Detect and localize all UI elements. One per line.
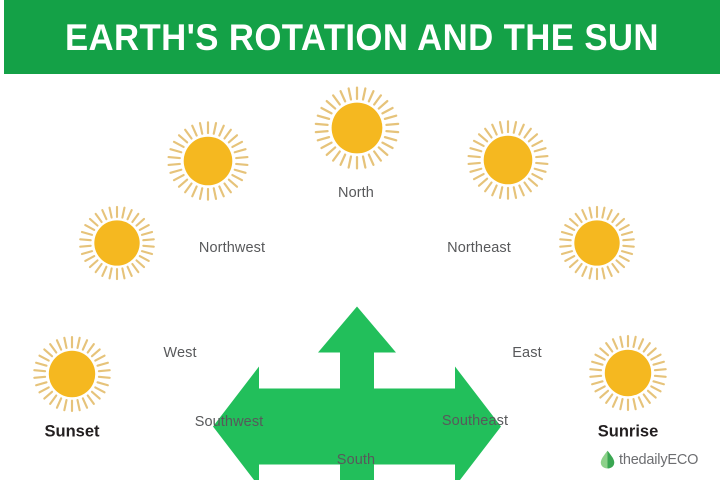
- south-label: South: [337, 452, 375, 468]
- logo-text-main: thedaily: [619, 452, 667, 468]
- sun-west: [75, 201, 159, 285]
- sun-northwest: [163, 116, 253, 206]
- sun-north: [310, 81, 404, 175]
- page-title: EARTH'S ROTATION AND THE SUN: [65, 19, 659, 56]
- northeast-label: Northeast: [447, 240, 511, 256]
- logo-text-accent: ECO: [667, 452, 698, 468]
- leaf-icon: [600, 450, 615, 469]
- north-label: North: [338, 185, 374, 201]
- infographic-page: EARTH'S ROTATION AND THE SUN: [0, 0, 720, 480]
- logo-text: thedailyECO: [619, 452, 698, 468]
- brand-logo[interactable]: thedailyECO: [600, 450, 698, 469]
- sun-sunrise: [585, 330, 671, 416]
- sun-sunset: [29, 331, 115, 417]
- sun-northeast: [463, 115, 553, 205]
- northwest-label: Northwest: [199, 240, 265, 256]
- southeast-label: Southeast: [442, 413, 508, 429]
- sun-east: [555, 201, 639, 285]
- header-bar: EARTH'S ROTATION AND THE SUN: [4, 0, 720, 74]
- sunset-label: Sunset: [44, 423, 99, 442]
- sunrise-label: Sunrise: [598, 423, 659, 442]
- east-label: East: [512, 345, 541, 361]
- west-label: West: [163, 345, 196, 361]
- diagram-canvas: North Northwest Northeast West East Sout…: [0, 74, 720, 480]
- southwest-label: Southwest: [195, 414, 264, 430]
